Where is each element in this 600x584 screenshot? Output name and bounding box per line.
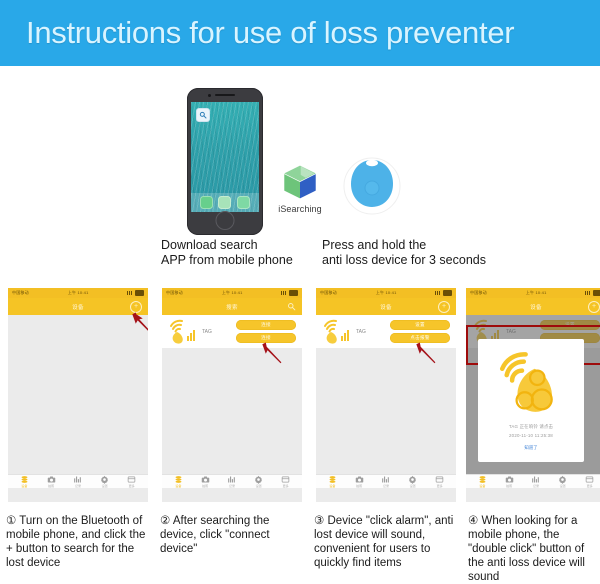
status-bar-carrier: 中国移动 [470, 290, 487, 296]
camera-icon [47, 475, 56, 484]
device-action-buttons: 连接 连接 [236, 320, 296, 343]
phone-home-button [216, 211, 235, 230]
phone-front-camera-icon [208, 94, 211, 97]
tab-camera[interactable]: 拍照 [355, 475, 364, 488]
tab-camera[interactable]: 拍照 [47, 475, 56, 488]
caption-line-1: Download search [161, 238, 311, 253]
app-screenshot-4: 中国移动 上午 10:41 设备 + [466, 288, 600, 502]
tab-device-label: 设备 [329, 484, 335, 488]
plus-circle-icon[interactable]: + [588, 301, 600, 313]
signal-bars-icon [585, 291, 591, 295]
gear-icon [558, 475, 567, 484]
status-bar-time: 上午 10:41 [376, 290, 397, 296]
screen-body: TAG 连接 连接 设备 拍照 记 [162, 315, 302, 488]
device-button-top[interactable]: 连接 [236, 320, 296, 330]
anti-loss-device-illustration [340, 152, 404, 216]
device-list-icon [478, 475, 487, 484]
device-list-icon [328, 475, 337, 484]
tab-records[interactable]: 记录 [381, 475, 390, 488]
status-bar-carrier: 中国移动 [166, 290, 183, 296]
status-bar-indicators [281, 290, 298, 296]
tab-more[interactable]: 更多 [585, 475, 594, 488]
battery-icon [289, 290, 298, 296]
nav-title: 设备 [380, 303, 392, 311]
device-button-bottom[interactable]: 连接 [236, 333, 296, 343]
phone-dock [191, 193, 259, 212]
tab-settings[interactable]: 设置 [408, 475, 417, 488]
tab-device[interactable]: 设备 [174, 475, 183, 488]
screen-body: TAG 设置 TAG 正在响铃 请点击 [466, 315, 600, 488]
modal-confirm-link[interactable]: 知道了 [524, 445, 537, 451]
status-bar: 中国移动 上午 10:41 [316, 288, 456, 298]
tab-camera-label: 拍照 [506, 484, 512, 488]
nav-title: 设备 [530, 303, 542, 311]
tab-settings[interactable]: 设置 [558, 475, 567, 488]
phone-icon [200, 196, 213, 209]
caption-step-3: ③ Device "click alarm", anti lost device… [314, 514, 464, 570]
status-bar-carrier: 中国移动 [12, 290, 29, 296]
nav-title: 设备 [72, 303, 84, 311]
app-screenshot-2: 中国移动 上午 10:41 搜索 [162, 288, 302, 502]
camera-icon [201, 475, 210, 484]
tab-more-label: 更多 [283, 484, 289, 488]
device-list-icon [174, 475, 183, 484]
isearching-app-icon [196, 108, 210, 122]
device-button-top[interactable]: 设置 [390, 320, 450, 330]
battery-icon [135, 290, 144, 296]
tab-settings-label: 设置 [410, 484, 416, 488]
phone-screen [191, 102, 259, 212]
search-icon[interactable] [286, 302, 296, 312]
tab-records[interactable]: 记录 [73, 475, 82, 488]
tab-more[interactable]: 更多 [281, 475, 290, 488]
isearching-logo: iSearching [267, 162, 333, 214]
status-bar: 中国移动 上午 10:41 [466, 288, 600, 298]
tab-camera[interactable]: 拍照 [201, 475, 210, 488]
tab-settings-label: 设置 [560, 484, 566, 488]
title-banner: Instructions for use of loss preventer [0, 0, 600, 66]
messages-icon [218, 196, 231, 209]
caption-line-1: Press and hold the [322, 238, 497, 253]
tab-more-label: 更多 [587, 484, 593, 488]
tab-device-label: 设备 [175, 484, 181, 488]
gear-icon [408, 475, 417, 484]
tab-more[interactable]: 更多 [127, 475, 136, 488]
device-list-icon [20, 475, 29, 484]
status-bar-time: 上午 10:41 [222, 290, 243, 296]
caption-press-hold: Press and hold the anti loss device for … [322, 238, 497, 268]
caption-step-1: ① Turn on the Bluetooth of mobile phone,… [6, 514, 154, 570]
status-bar: 中国移动 上午 10:41 [162, 288, 302, 298]
bottom-caption-row: ① Turn on the Bluetooth of mobile phone,… [0, 514, 600, 576]
app-screenshot-1: 中国移动 上午 10:41 设备 + 设备 [8, 288, 148, 502]
app-screenshot-3: 中国移动 上午 10:41 设备 + [316, 288, 456, 502]
tab-bar: 设备 拍照 记录 设置 更多 [316, 474, 456, 488]
status-bar-indicators [435, 290, 452, 296]
nav-bar: 设备 + [8, 298, 148, 315]
alert-modal: TAG 正在响铃 请点击 2020-11-10 11:25:38 知道了 [478, 339, 584, 462]
tab-bar: 设备 拍照 记录 设置 更多 [162, 474, 302, 488]
caption-download-app: Download search APP from mobile phone [161, 238, 311, 268]
tab-camera-label: 拍照 [202, 484, 208, 488]
modal-timestamp: 2020-11-10 11:25:38 [509, 433, 553, 438]
tab-more[interactable]: 更多 [435, 475, 444, 488]
tab-records-label: 记录 [533, 484, 539, 488]
tab-records-label: 记录 [229, 484, 235, 488]
signal-bars-icon [127, 291, 133, 295]
tab-more-label: 更多 [437, 484, 443, 488]
tab-settings-label: 设置 [102, 484, 108, 488]
tab-bar: 设备 拍照 记录 设置 更多 [8, 474, 148, 488]
gear-icon [100, 475, 109, 484]
tab-device[interactable]: 设备 [478, 475, 487, 488]
battery-icon [443, 290, 452, 296]
device-action-buttons: 设置 点击报警 [390, 320, 450, 343]
isearching-logo-label: iSearching [267, 204, 333, 214]
tab-records[interactable]: 记录 [531, 475, 540, 488]
tab-bar: 设备 拍照 记录 设置 更多 [466, 474, 600, 488]
status-bar-carrier: 中国移动 [320, 290, 337, 296]
records-icon [381, 475, 390, 484]
device-name: TAG [356, 329, 376, 335]
camera-icon [505, 475, 514, 484]
caption-step-4: ④ When looking for a mobile phone, the "… [468, 514, 596, 584]
status-bar-indicators [127, 290, 144, 296]
screen-body: TAG 设置 点击报警 设备 拍照 [316, 315, 456, 488]
gear-icon [254, 475, 263, 484]
records-icon [73, 475, 82, 484]
tab-more-label: 更多 [129, 484, 135, 488]
tab-camera-label: 拍照 [48, 484, 54, 488]
app-screenshot-row: 中国移动 上午 10:41 设备 + 设备 [0, 288, 600, 512]
caption-step-2: ② After searching the device, click "con… [160, 514, 300, 556]
nav-title: 搜索 [226, 303, 238, 311]
tab-settings-label: 设置 [256, 484, 262, 488]
tab-camera[interactable]: 拍照 [505, 475, 514, 488]
records-icon [227, 475, 236, 484]
tab-settings[interactable]: 设置 [100, 475, 109, 488]
plus-circle-icon[interactable]: + [130, 301, 142, 313]
phone-speaker [215, 94, 235, 96]
top-illustration-row: iSearching Download search APP from mobi… [0, 66, 600, 284]
signal-bars-icon [281, 291, 287, 295]
device-card[interactable]: TAG 连接 连接 [162, 315, 302, 348]
status-bar-time: 上午 10:41 [526, 290, 547, 296]
tab-device[interactable]: 设备 [328, 475, 337, 488]
plus-circle-icon[interactable]: + [438, 301, 450, 313]
records-icon [531, 475, 540, 484]
facetime-icon [237, 196, 250, 209]
device-icons [322, 318, 352, 346]
more-icon [127, 475, 136, 484]
screen-body: 设备 拍照 记录 设置 更多 [8, 315, 148, 488]
status-bar: 中国移动 上午 10:41 [8, 288, 148, 298]
device-card[interactable]: TAG 设置 点击报警 [316, 315, 456, 348]
status-bar-indicators [585, 290, 600, 296]
cube-logo-icon [278, 162, 322, 202]
caption-line-2: APP from mobile phone [161, 253, 311, 268]
tab-records-label: 记录 [383, 484, 389, 488]
tab-device[interactable]: 设备 [20, 475, 29, 488]
tab-camera-label: 拍照 [356, 484, 362, 488]
more-icon [435, 475, 444, 484]
tab-records-label: 记录 [75, 484, 81, 488]
modal-message: TAG 正在响铃 请点击 [509, 424, 553, 430]
tab-settings[interactable]: 设置 [254, 475, 263, 488]
device-name: TAG [202, 329, 222, 335]
tab-device-label: 设备 [479, 484, 485, 488]
tab-device-label: 设备 [21, 484, 27, 488]
nav-bar: 搜索 [162, 298, 302, 315]
signal-bars-icon [435, 291, 441, 295]
more-icon [585, 475, 594, 484]
caption-line-2: anti loss device for 3 seconds [322, 253, 497, 268]
status-bar-time: 上午 10:41 [68, 290, 89, 296]
more-icon [281, 475, 290, 484]
page-title: Instructions for use of loss preventer [0, 15, 514, 51]
mobile-phone-illustration [187, 88, 263, 235]
device-icons [168, 318, 198, 346]
camera-icon [355, 475, 364, 484]
battery-icon [593, 290, 600, 296]
tab-records[interactable]: 记录 [227, 475, 236, 488]
nav-bar: 设备 + [316, 298, 456, 315]
nav-bar: 设备 + [466, 298, 600, 315]
tag-alert-icon [495, 349, 567, 421]
device-button-bottom[interactable]: 点击报警 [390, 333, 450, 343]
